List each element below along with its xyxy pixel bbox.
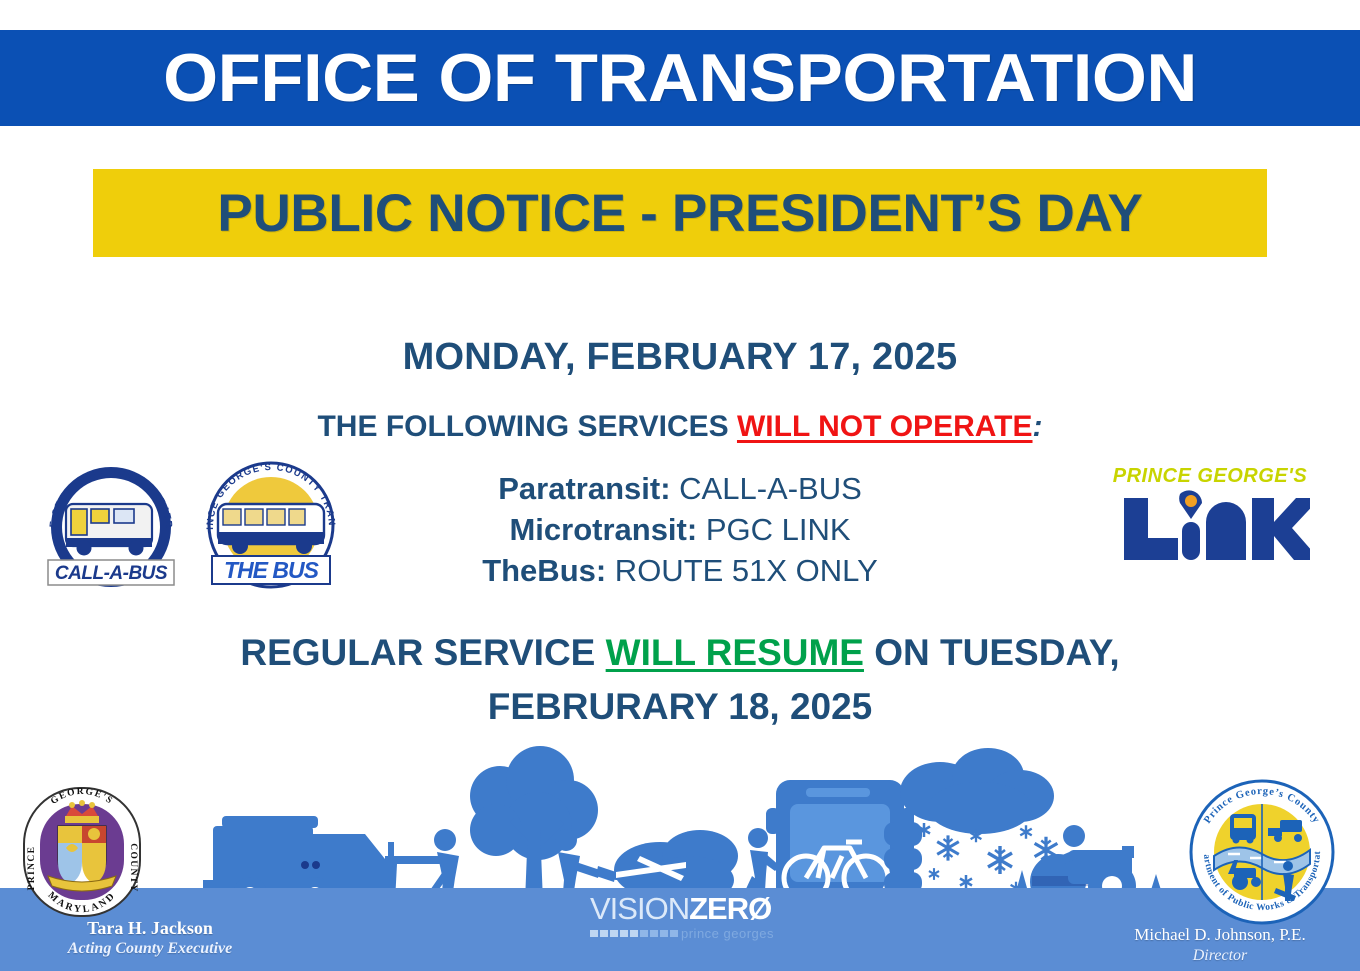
banner-title: PUBLIC NOTICE - PRESIDENT’S DAY [217, 187, 1142, 240]
resume-prefix: REGULAR SERVICE [240, 632, 605, 673]
vision-zero-logo: VISION ZERØ prince georges [590, 893, 790, 945]
will-resume-emphasis: WILL RESUME [606, 632, 864, 673]
service-value: PGC LINK [697, 512, 850, 547]
services-colon: : [1033, 410, 1043, 443]
dpwt-seal: Prince George’s County Department of Pub… [1188, 778, 1336, 926]
director-name: Michael D. Johnson, P.E. [1080, 925, 1360, 945]
snow-cloud-icon [900, 748, 1054, 834]
director-title: Director [1080, 947, 1360, 965]
pgc-link-logo: PRINCE GEORGE'S [1110, 458, 1310, 568]
service-label: Paratransit: [498, 471, 670, 506]
call-a-bus-logo: PRINCE GEORGE'S COUNTY PARATRANSIT CALL-… [32, 452, 190, 600]
vision-zero-subtitle-row: prince georges [590, 926, 790, 941]
resume-date: FEBRURARY 18, 2025 [0, 680, 1360, 734]
services-intro-line: THE FOLLOWING SERVICES WILL NOT OPERATE: [0, 410, 1360, 444]
county-executive-title: Acting County Executive [0, 940, 300, 958]
the-bus-logo: PRINCE GEORGE'S COUNTY TRANSIT THE BUS [196, 452, 346, 600]
resume-line-1: REGULAR SERVICE WILL RESUME ON TUESDAY, [0, 626, 1360, 680]
service-label: TheBus: [482, 553, 606, 588]
svg-text:PRINCE GEORGE'S: PRINCE GEORGE'S [1113, 465, 1308, 487]
vision-zero-word-two: ZERØ [689, 893, 771, 924]
public-notice-poster: OFFICE OF TRANSPORTATION PUBLIC NOTICE -… [0, 0, 1360, 971]
tree-icon [470, 746, 598, 902]
page-title: OFFICE OF TRANSPORTATION [163, 44, 1197, 112]
vision-zero-subtitle: prince georges [681, 926, 774, 941]
notice-date: MONDAY, FEBRUARY 17, 2025 [0, 336, 1360, 379]
vision-zero-wordmark: VISION ZERØ [590, 893, 790, 924]
vision-zero-word-one: VISION [590, 893, 689, 924]
svg-text:THE BUS: THE BUS [224, 557, 320, 583]
service-value: CALL-A-BUS [671, 471, 862, 506]
service-value: ROUTE 51X ONLY [606, 553, 878, 588]
service-label: Microtransit: [509, 512, 697, 547]
county-executive-name: Tara H. Jackson [0, 918, 300, 939]
resume-suffix: ON TUESDAY, [864, 632, 1120, 673]
svg-text:PRINCE: PRINCE [27, 846, 37, 891]
will-not-operate-emphasis: WILL NOT OPERATE [737, 410, 1033, 443]
services-intro-text: THE FOLLOWING SERVICES [317, 410, 736, 443]
prince-georges-county-seal: GEORGE'S MARYLAND PRINCE COUNTY [18, 782, 146, 922]
vision-zero-bars-icon [590, 930, 678, 937]
public-notice-banner: PUBLIC NOTICE - PRESIDENT’S DAY [93, 169, 1267, 257]
svg-text:COUNTY: COUNTY [128, 843, 138, 893]
svg-text:CALL-A-BUS: CALL-A-BUS [55, 563, 168, 584]
header-bar: OFFICE OF TRANSPORTATION [0, 30, 1360, 126]
service-resume-notice: REGULAR SERVICE WILL RESUME ON TUESDAY, … [0, 626, 1360, 734]
